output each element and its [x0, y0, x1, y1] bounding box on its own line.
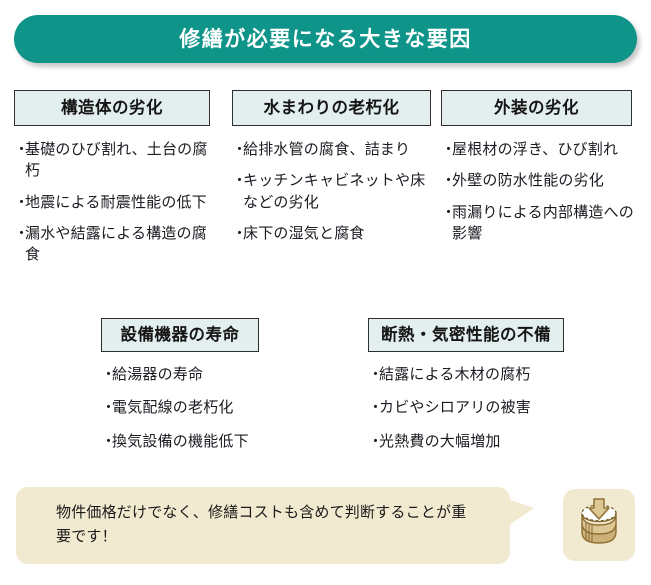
list-item: ・ 給排水管の腐食、詰まり	[232, 139, 437, 160]
list-item: ・ 給湯器の寿命	[101, 364, 271, 385]
category-list-insulation: ・ 結露による木材の腐朽 ・ カビやシロアリの被害 ・ 光熱費の大幅増加	[368, 364, 568, 464]
list-item: ・ 電気配線の老朽化	[101, 397, 271, 418]
bullet-marker-icon: ・	[441, 202, 452, 223]
category-header-exterior: 外装の劣化	[441, 90, 632, 126]
list-item-label: 漏水や結露による構造の腐食	[25, 223, 219, 266]
bullet-marker-icon: ・	[232, 223, 243, 244]
category-header-equipment: 設備機器の寿命	[101, 318, 259, 352]
list-item-label: 地震による耐震性能の低下	[25, 192, 219, 213]
list-item: ・ カビやシロアリの被害	[368, 397, 568, 418]
category-list-equipment: ・ 給湯器の寿命 ・ 電気配線の老朽化 ・ 換気設備の機能低下	[101, 364, 271, 464]
category-list-exterior: ・ 屋根材の浮き、ひび割れ ・ 外壁の防水性能の劣化 ・ 雨漏りによる内部構造へ…	[441, 139, 641, 254]
list-item-label: 給湯器の寿命	[112, 364, 271, 385]
list-item: ・ 換気設備の機能低下	[101, 431, 271, 452]
list-item: ・ キッチンキャビネットや床などの劣化	[232, 170, 437, 213]
category-header-label: 水まわりの老朽化	[264, 100, 400, 117]
bullet-marker-icon: ・	[368, 397, 379, 418]
coin-stack-down-arrow-icon	[563, 489, 635, 561]
category-header-water: 水まわりの老朽化	[232, 90, 431, 126]
list-item-label: 電気配線の老朽化	[112, 397, 271, 418]
bullet-marker-icon: ・	[14, 139, 25, 160]
bullet-marker-icon: ・	[101, 431, 112, 452]
bullet-marker-icon: ・	[441, 139, 452, 160]
list-item: ・ 床下の湿気と腐食	[232, 223, 437, 244]
summary-callout-text: 物件価格だけでなく、修繕コストも含めて判断することが重要です！	[56, 501, 476, 550]
list-item-label: 給排水管の腐食、詰まり	[243, 139, 437, 160]
category-header-label: 断熱・気密性能の不備	[381, 327, 551, 344]
category-header-label: 設備機器の寿命	[121, 327, 240, 344]
list-item: ・ 屋根材の浮き、ひび割れ	[441, 139, 641, 160]
list-item-label: 結露による木材の腐朽	[379, 364, 568, 385]
list-item-label: 基礎のひび割れ、土台の腐朽	[25, 139, 219, 182]
list-item: ・ 漏水や結露による構造の腐食	[14, 223, 219, 266]
bullet-marker-icon: ・	[368, 364, 379, 385]
list-item-label: 光熱費の大幅増加	[379, 431, 568, 452]
callout-tail	[508, 499, 534, 526]
list-item: ・ 結露による木材の腐朽	[368, 364, 568, 385]
page-title: 修繕が必要になる大きな要因	[179, 29, 472, 50]
bullet-marker-icon: ・	[232, 170, 243, 191]
category-header-label: 外装の劣化	[494, 100, 579, 117]
category-list-water: ・ 給排水管の腐食、詰まり ・ キッチンキャビネットや床などの劣化 ・ 床下の湿…	[232, 139, 437, 254]
bullet-marker-icon: ・	[441, 170, 452, 191]
list-item-label: 床下の湿気と腐食	[243, 223, 437, 244]
category-header-structure: 構造体の劣化	[14, 90, 210, 126]
list-item-label: カビやシロアリの被害	[379, 397, 568, 418]
list-item-label: 屋根材の浮き、ひび割れ	[452, 139, 641, 160]
list-item-label: 雨漏りによる内部構造への影響	[452, 202, 641, 245]
bullet-marker-icon: ・	[101, 397, 112, 418]
category-header-label: 構造体の劣化	[61, 100, 163, 117]
list-item: ・ 雨漏りによる内部構造への影響	[441, 202, 641, 245]
list-item: ・ 基礎のひび割れ、土台の腐朽	[14, 139, 219, 182]
page-title-banner: 修繕が必要になる大きな要因	[14, 15, 637, 63]
list-item-label: 換気設備の機能低下	[112, 431, 271, 452]
bullet-marker-icon: ・	[232, 139, 243, 160]
bullet-marker-icon: ・	[14, 223, 25, 244]
bullet-marker-icon: ・	[368, 431, 379, 452]
list-item-label: キッチンキャビネットや床などの劣化	[243, 170, 437, 213]
category-list-structure: ・ 基礎のひび割れ、土台の腐朽 ・ 地震による耐震性能の低下 ・ 漏水や結露によ…	[14, 139, 219, 275]
bullet-marker-icon: ・	[101, 364, 112, 385]
summary-callout: 物件価格だけでなく、修繕コストも含めて判断することが重要です！	[16, 487, 510, 564]
list-item: ・ 外壁の防水性能の劣化	[441, 170, 641, 191]
list-item: ・ 地震による耐震性能の低下	[14, 192, 219, 213]
bullet-marker-icon: ・	[14, 192, 25, 213]
category-header-insulation: 断熱・気密性能の不備	[368, 318, 564, 352]
list-item: ・ 光熱費の大幅増加	[368, 431, 568, 452]
list-item-label: 外壁の防水性能の劣化	[452, 170, 641, 191]
